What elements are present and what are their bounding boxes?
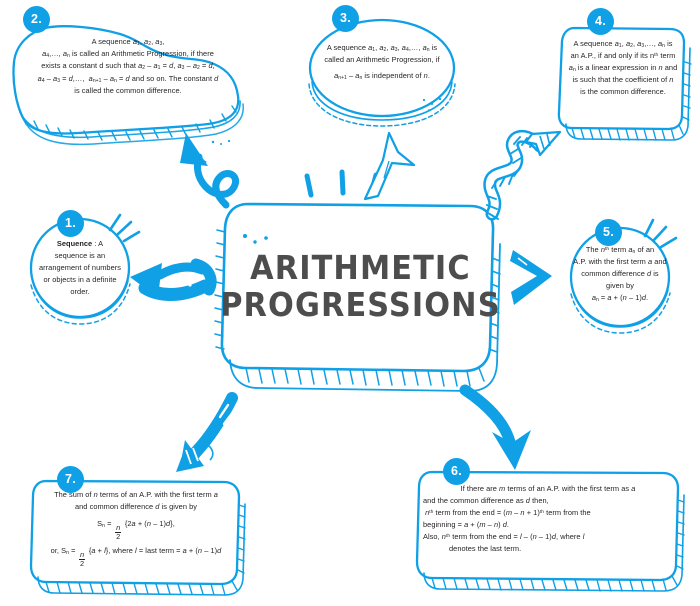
arrow-center-to-node5 [510, 250, 552, 305]
node-3-text: A sequence a1, a2, a3, a4,…, an is calle… [310, 42, 454, 82]
node-5-sparkle [645, 220, 676, 247]
node-2-text: A sequence a1, a2, a3, a4,…, an is calle… [16, 36, 240, 97]
center-title-box: ARITHMETIC PROGRESSIONS [236, 212, 484, 362]
node-badge-number-6: 6. [443, 458, 470, 485]
arrow-center-to-node7 [176, 398, 239, 472]
arrow-center-to-node6 [465, 390, 531, 470]
node-5-text: The nth term an of an A.P. with the firs… [563, 244, 677, 304]
node-2: A sequence a1, a2, a3, a4,…, an is calle… [16, 36, 240, 97]
arrow-center-to-node3 [365, 133, 414, 199]
node-7-text: The sum of n terms of an A.P. with the f… [36, 489, 236, 568]
node-1: Sequence : A sequence is an arrangement … [26, 238, 134, 298]
node-badge-number-3: 3. [332, 5, 359, 32]
node-1-badge-number-2: 2. [23, 6, 50, 33]
mindmap-canvas: 2. 3. 4. 1. 5. 6. 7. A sequence a1, a2, … [0, 0, 700, 606]
node-badge-number-4: 4. [587, 8, 614, 35]
node-3-specks [423, 98, 441, 111]
arrow-center-to-node2 [180, 133, 236, 205]
node-7: The sum of n terms of an A.P. with the f… [36, 489, 236, 568]
node-1-text: Sequence : A sequence is an arrangement … [26, 238, 134, 298]
node-2-specks [212, 140, 230, 145]
arrow-center-to-node4 [487, 132, 560, 219]
center-sparkle [307, 172, 376, 195]
node-6-text: If there are m terms of an A.P. with the… [423, 483, 673, 555]
title-line-2: PROGRESSIONS [220, 285, 500, 324]
node-badge-number-5: 5. [595, 219, 622, 246]
node-2-hatch [22, 106, 236, 140]
node-4: A sequence a1, a2, a3,…, an is an A.P., … [562, 38, 684, 98]
node-badge-number-1: 1. [57, 210, 84, 237]
node-3: A sequence a1, a2, a3, a4,…, an is calle… [310, 42, 454, 82]
node-4-text: A sequence a1, a2, a3,…, an is an A.P., … [562, 38, 684, 98]
node-6: If there are m terms of an A.P. with the… [423, 483, 673, 555]
node-5: The nth term an of an A.P. with the firs… [563, 244, 677, 304]
node-badge-number-7: 7. [57, 466, 84, 493]
title-line-1: ARITHMETIC [250, 248, 471, 287]
page-title: ARITHMETIC PROGRESSIONS [220, 250, 500, 324]
arrow-center-to-node1 [130, 263, 211, 298]
